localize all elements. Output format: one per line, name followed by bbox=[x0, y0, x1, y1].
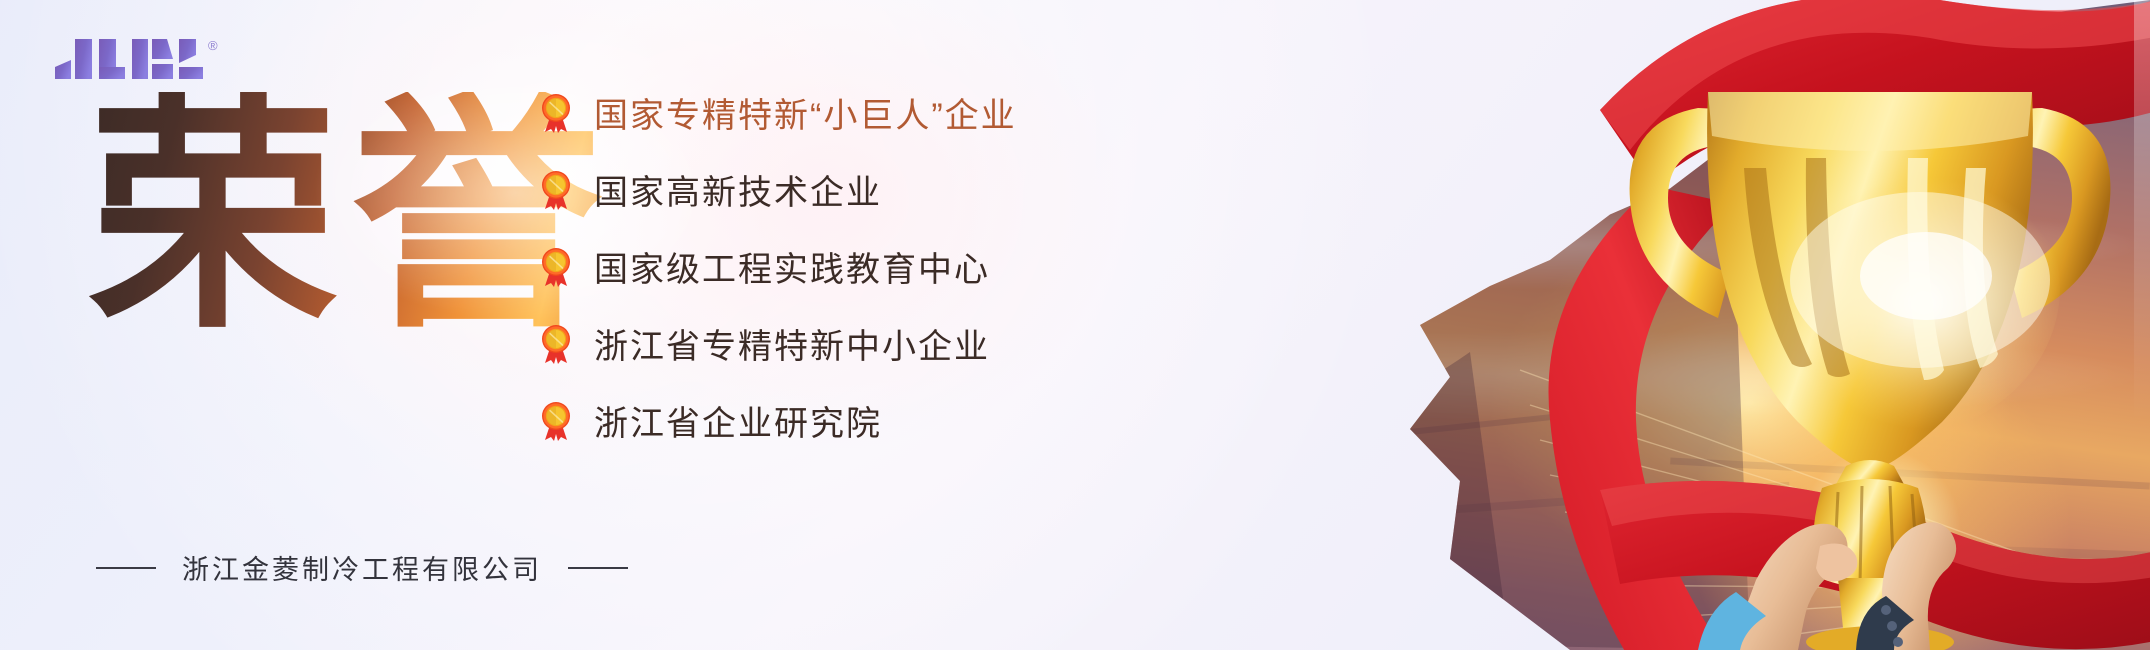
medal-icon bbox=[540, 93, 572, 133]
registered-trademark-icon: ® bbox=[208, 38, 218, 53]
list-item-label: 国家级工程实践教育中心 bbox=[594, 242, 990, 291]
list-item-label: 国家专精特新“小巨人”企业 bbox=[594, 88, 1017, 137]
list-item: 浙江省企业研究院 bbox=[540, 396, 1017, 445]
award-artwork bbox=[1150, 0, 2150, 650]
company-logo[interactable]: ® bbox=[55, 33, 218, 79]
medal-icon bbox=[540, 247, 572, 287]
red-ribbon-icon bbox=[1300, 0, 2150, 650]
medal-icon bbox=[540, 324, 572, 364]
page-title: 荣誉 bbox=[88, 92, 616, 342]
medal-icon bbox=[540, 170, 572, 210]
cloud-silhouette-icon bbox=[1150, 0, 2150, 650]
jinling-logo-icon bbox=[55, 33, 203, 79]
divider-right bbox=[568, 567, 628, 569]
right-edge-highlight bbox=[2134, 0, 2150, 420]
raised-hands-icon bbox=[1670, 460, 2090, 650]
sun-glow bbox=[1620, 270, 2140, 650]
medal-icon bbox=[540, 401, 572, 441]
gold-trophy-icon bbox=[1590, 18, 2150, 650]
list-item-label: 浙江省企业研究院 bbox=[594, 396, 882, 445]
company-signature: 浙江金菱制冷工程有限公司 bbox=[96, 548, 628, 587]
list-item: 国家级工程实践教育中心 bbox=[540, 242, 1017, 291]
honor-list: 国家专精特新“小巨人”企业 国家高新技术企业 bbox=[540, 88, 1017, 445]
honor-banner: ® 荣誉 浙江金菱制冷工程有限公司 国家专精特新“小巨人”企业 bbox=[0, 0, 2150, 650]
list-item-label: 国家高新技术企业 bbox=[594, 165, 882, 214]
company-name: 浙江金菱制冷工程有限公司 bbox=[182, 548, 542, 587]
list-item: 国家高新技术企业 bbox=[540, 165, 1017, 214]
list-item: 国家专精特新“小巨人”企业 bbox=[540, 88, 1017, 137]
sunset-mountain-scene bbox=[1150, 0, 2150, 650]
light-rays-icon bbox=[1480, 120, 2140, 650]
list-item: 浙江省专精特新中小企业 bbox=[540, 319, 1017, 368]
list-item-label: 浙江省专精特新中小企业 bbox=[594, 319, 990, 368]
divider-left bbox=[96, 567, 156, 569]
